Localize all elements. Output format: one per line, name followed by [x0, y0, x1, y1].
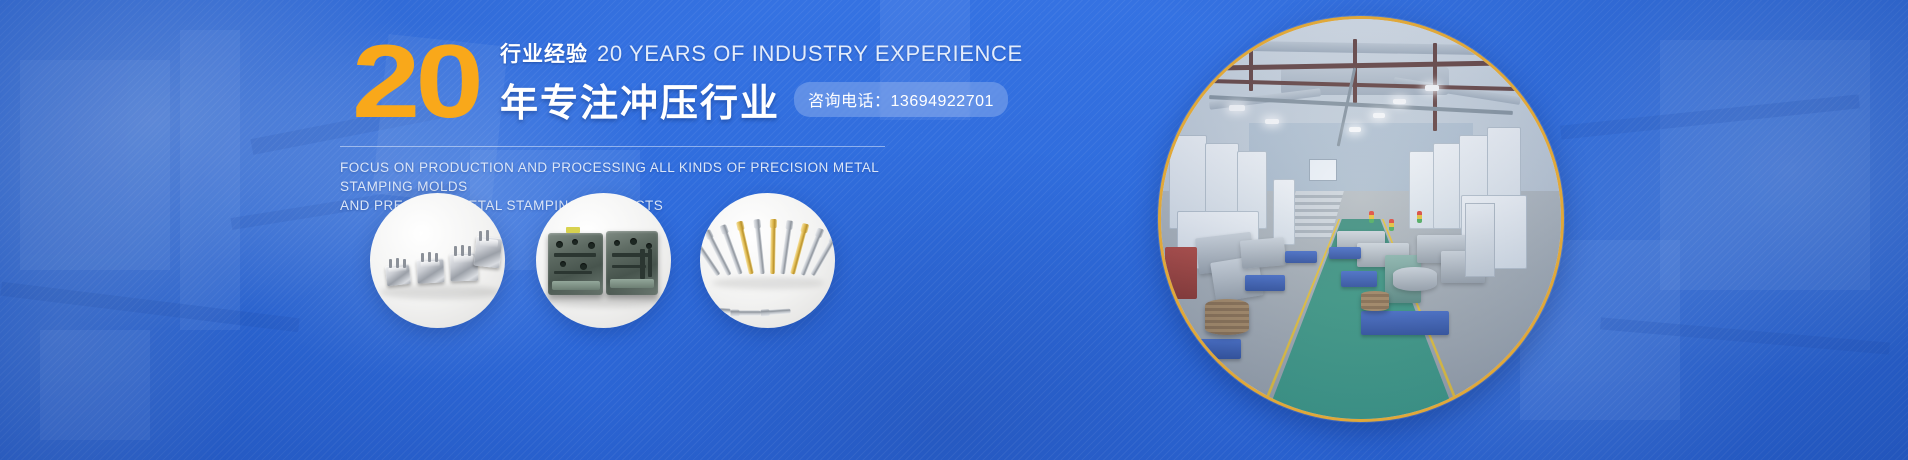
focus-stamping-cn: 年专注冲压行业	[500, 72, 780, 127]
headline-line-1: 行业经验 20 YEARS OF INDUSTRY EXPERIENCE	[500, 38, 1023, 68]
promo-banner: 20 行业经验 20 YEARS OF INDUSTRY EXPERIENCE …	[0, 0, 1908, 460]
headline-block: 20 行业经验 20 YEARS OF INDUSTRY EXPERIENCE …	[340, 38, 900, 215]
product-circle-stamping-mold[interactable]	[536, 193, 671, 328]
industry-experience-en: 20 YEARS OF INDUSTRY EXPERIENCE	[597, 41, 1023, 67]
years-number: 20	[352, 36, 479, 128]
factory-workshop-photo[interactable]	[1158, 16, 1564, 422]
headline-line-2: 年专注冲压行业 咨询电话：13694922701	[500, 72, 1023, 127]
industry-experience-cn: 行业经验	[500, 38, 588, 68]
subline-line-1: FOCUS ON PRODUCTION AND PROCESSING ALL K…	[340, 158, 900, 196]
product-circle-terminal-pins[interactable]	[700, 193, 835, 328]
headline-text-group: 行业经验 20 YEARS OF INDUSTRY EXPERIENCE 年专注…	[500, 38, 1023, 127]
phone-badge[interactable]: 咨询电话：13694922701	[794, 82, 1008, 117]
product-circle-connector-shells[interactable]	[370, 193, 505, 328]
headline-row: 20 行业经验 20 YEARS OF INDUSTRY EXPERIENCE …	[340, 38, 900, 130]
headline-divider	[340, 146, 885, 147]
